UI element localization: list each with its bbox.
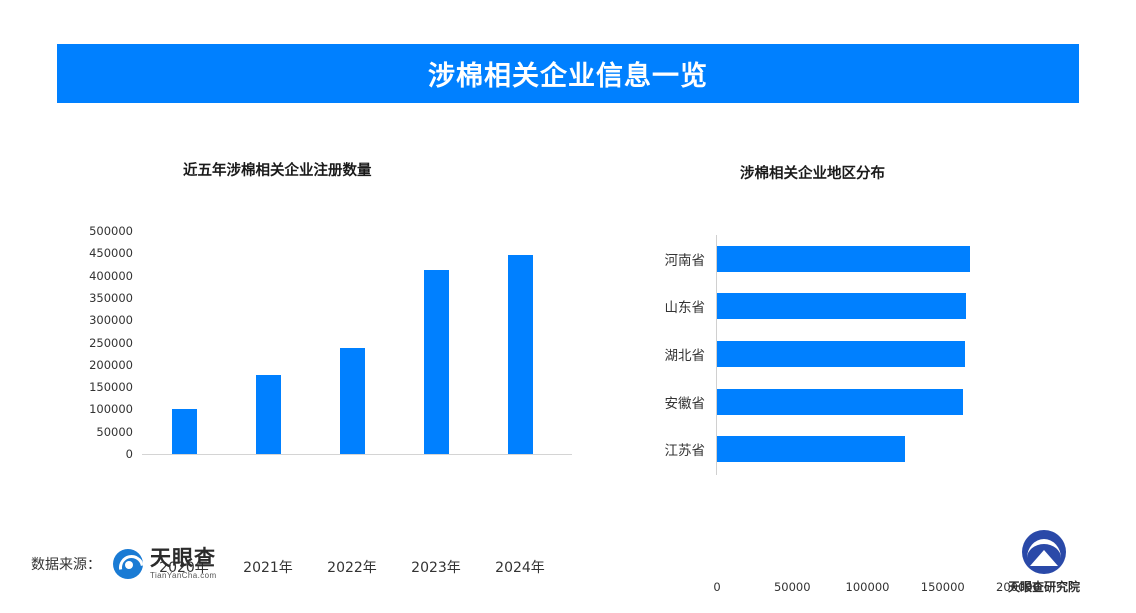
page-title: 涉棉相关企业信息一览 — [428, 54, 708, 93]
vertical-bar[interactable] — [424, 270, 449, 454]
horizontal-bar-row: 安徽省 — [717, 389, 1018, 415]
tianyancha-wordmark: 天眼查 TianYanCha.com — [150, 548, 217, 580]
x-axis-tick-label: 50000 — [774, 580, 811, 594]
category-label-province: 江苏省 — [665, 439, 706, 459]
x-axis-tick-label: 2023年 — [411, 557, 461, 577]
horizontal-bar-row: 江苏省 — [717, 436, 1018, 462]
y-axis-tick-label: 350000 — [89, 291, 133, 305]
chart-title-registrations: 近五年涉棉相关企业注册数量 — [183, 159, 372, 180]
horizontal-bar[interactable] — [717, 436, 905, 462]
institute-name: 天眼查研究院 — [1008, 578, 1080, 595]
horizontal-bar[interactable] — [717, 293, 966, 319]
horizontal-bar[interactable] — [717, 341, 965, 367]
y-axis-tick-label: 250000 — [89, 336, 133, 350]
header-banner: 涉棉相关企业信息一览 — [57, 44, 1079, 103]
category-label-province: 安徽省 — [665, 392, 706, 412]
x-axis-tick-label: 100000 — [846, 580, 890, 594]
x-axis-tick-label: 2022年 — [327, 557, 377, 577]
vertical-bar[interactable] — [508, 255, 533, 454]
x-axis-tick-label: 2021年 — [243, 557, 293, 577]
vertical-bar-slot — [394, 231, 478, 454]
category-label-province: 河南省 — [665, 249, 706, 269]
y-axis-tick-label: 500000 — [89, 224, 133, 238]
y-axis-tick-label: 50000 — [96, 425, 133, 439]
x-axis-tick-label: 150000 — [921, 580, 965, 594]
y-axis-tick-label: 100000 — [89, 402, 133, 416]
vertical-bar-slot — [310, 231, 394, 454]
category-label-province: 湖北省 — [665, 344, 706, 364]
vertical-bar[interactable] — [256, 375, 281, 454]
chart-title-regions: 涉棉相关企业地区分布 — [740, 162, 885, 183]
horizontal-bar-plot-area: 河南省山东省湖北省安徽省江苏省050000100000150000200000 — [717, 235, 1018, 473]
horizontal-bar[interactable] — [717, 389, 963, 415]
x-axis-tick-label: 2024年 — [495, 557, 545, 577]
horizontal-bar-row: 湖北省 — [717, 341, 1018, 367]
vertical-bar[interactable] — [172, 409, 197, 454]
data-source-footer: 数据来源： 天眼查 TianYanCha.com — [31, 548, 217, 580]
vertical-chart-baseline — [142, 454, 572, 455]
horizontal-bar-row: 山东省 — [717, 293, 1018, 319]
y-axis-tick-label: 450000 — [89, 246, 133, 260]
institute-footer: 天眼查研究院 — [1008, 530, 1080, 595]
category-label-province: 山东省 — [665, 296, 706, 316]
tianyancha-eye-icon — [113, 549, 143, 579]
vertical-bar-slot — [142, 231, 226, 454]
registration-count-chart-panel: 近五年涉棉相关企业注册数量 50000045000040000035000030… — [60, 140, 580, 510]
y-axis-tick-label: 200000 — [89, 358, 133, 372]
tianyancha-name-en: TianYanCha.com — [150, 572, 217, 580]
horizontal-bar-row: 河南省 — [717, 246, 1018, 272]
region-distribution-chart-panel: 涉棉相关企业地区分布 河南省山东省湖北省安徽省江苏省05000010000015… — [600, 140, 1100, 510]
horizontal-bar[interactable] — [717, 246, 970, 272]
infographic-page: 涉棉相关企业信息一览 近五年涉棉相关企业注册数量 500000450000400… — [0, 0, 1136, 613]
vertical-bar-plot-area: 5000004500004000003500003000002500002000… — [142, 231, 562, 454]
x-axis-tick-label: 0 — [713, 580, 720, 594]
tianyancha-name-cn: 天眼查 — [150, 548, 217, 569]
vertical-bar[interactable] — [340, 348, 365, 454]
y-axis-tick-label: 0 — [126, 447, 133, 461]
y-axis-tick-label: 150000 — [89, 380, 133, 394]
vertical-bar-slot — [226, 231, 310, 454]
tianyancha-logo: 天眼查 TianYanCha.com — [113, 548, 217, 580]
y-axis-tick-label: 400000 — [89, 269, 133, 283]
institute-logo-icon — [1022, 530, 1066, 574]
vertical-bar-slot — [478, 231, 562, 454]
y-axis-tick-label: 300000 — [89, 313, 133, 327]
source-label: 数据来源： — [31, 554, 101, 574]
